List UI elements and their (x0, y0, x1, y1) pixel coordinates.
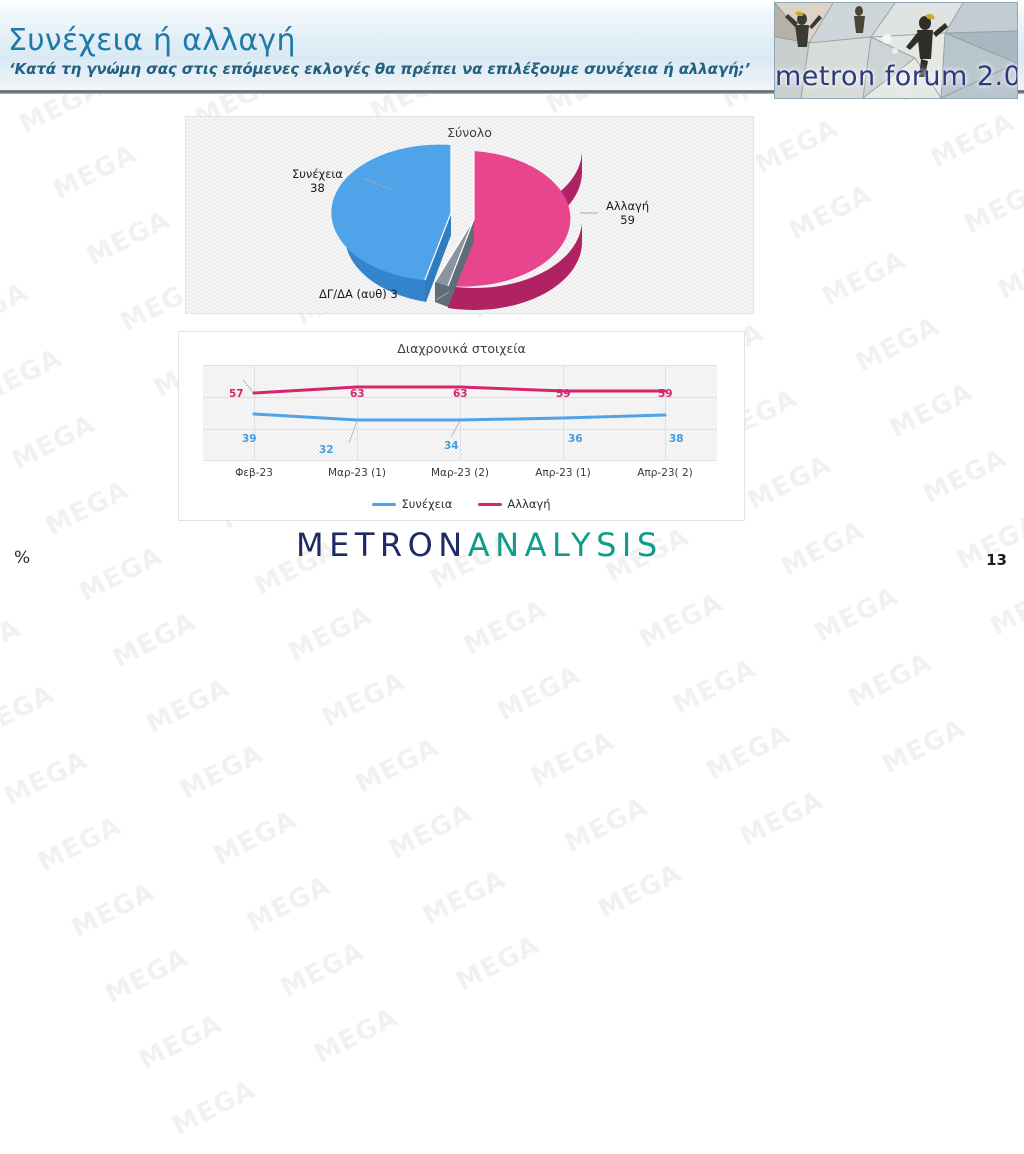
watermark-text: MEGA (82, 205, 175, 272)
watermark-text: MEGA (385, 798, 478, 865)
legend-item-sinexeia[interactable]: Συνέχεια (372, 497, 452, 511)
watermark-text: MEGA (0, 679, 59, 746)
watermark-text: MEGA (209, 804, 302, 871)
watermark-text: MEGA (418, 864, 511, 931)
watermark-text: MEGA (919, 443, 1012, 510)
legend-swatch-allagi (478, 503, 502, 506)
line-label-allagi-0: 57 (229, 388, 244, 400)
watermark-text: MEGA (41, 475, 134, 542)
logo-caption-text: metron forum 2.0 (775, 61, 1017, 92)
watermark-text: MEGA (527, 726, 620, 793)
watermark-text: MEGA (317, 666, 410, 733)
line-label-sinexeia-0: 39 (242, 433, 257, 445)
legend-label-sinexeia: Συνέχεια (401, 497, 452, 511)
watermark-text: MEGA (926, 107, 1019, 174)
line-label-allagi-4: 59 (658, 388, 673, 400)
watermark-text: MEGA (1020, 641, 1024, 708)
legend-label-allagi: Αλλαγή (507, 497, 550, 511)
pie-label-allagi: Αλλαγή 59 (606, 199, 649, 227)
line-xaxis-label-0: Φεβ-23 (209, 467, 299, 479)
watermark-text: MEGA (75, 541, 168, 608)
line-chart-plot-area (203, 365, 717, 461)
watermark-text: MEGA (960, 173, 1024, 240)
watermark-text: MEGA (852, 311, 945, 378)
watermark-text: MEGA (0, 343, 67, 410)
watermark-text: MEGA (243, 870, 336, 937)
watermark-text: MEGA (276, 936, 369, 1003)
page-title: Συνέχεια ή αλλαγή (8, 23, 296, 58)
line-label-sinexeia-2: 34 (444, 440, 459, 452)
pie-label-sinexeia: Συνέχεια 38 (292, 167, 343, 195)
watermark-text: MEGA (736, 785, 829, 852)
line-xaxis-label-3: Απρ-23 (1) (518, 467, 608, 479)
watermark-text: MEGA (0, 613, 26, 680)
pie-label-allagi-name: Αλλαγή (606, 199, 649, 213)
watermark-text: MEGA (993, 239, 1024, 306)
watermark-text: MEGA (49, 139, 142, 206)
watermark-text: MEGA (134, 1008, 227, 1075)
metron-forum-logo: metron forum 2.0 (774, 2, 1018, 99)
line-label-sinexeia-3: 36 (568, 433, 583, 445)
pie-label-sinexeia-value: 38 (292, 181, 343, 195)
line-label-sinexeia-1: 32 (319, 444, 334, 456)
watermark-text: MEGA (743, 449, 836, 516)
line-chart-title: Διαχρονικά στοιχεία (179, 341, 744, 356)
line-xaxis-label-2: Μαρ-23 (2) (415, 467, 505, 479)
line-label-allagi-3: 59 (556, 388, 571, 400)
line-chart-panel: Διαχρονικά στοιχεία (178, 331, 745, 521)
watermark-text: MEGA (0, 745, 93, 812)
pie-label-allagi-value: 59 (606, 213, 649, 227)
page-number: 13 (986, 551, 1007, 569)
line-label-sinexeia-4: 38 (669, 433, 684, 445)
watermark-text: MEGA (108, 607, 201, 674)
watermark-text: MEGA (493, 660, 586, 727)
page-subtitle: ‘Κατά τη γνώμη σας στις επόμενες εκλογές… (9, 60, 750, 78)
watermark-text: MEGA (751, 113, 844, 180)
watermark-text: MEGA (818, 245, 911, 312)
pie-chart-panel: Σύνολο (185, 116, 754, 314)
watermark-text: MEGA (175, 738, 268, 805)
pie-label-dgda: ΔΓ/ΔΑ (αυθ) 3 (319, 287, 398, 301)
line-label-allagi-2: 63 (453, 388, 468, 400)
watermark-text: MEGA (844, 647, 937, 714)
line-chart-legend: Συνέχεια Αλλαγή (179, 497, 744, 511)
watermark-text: MEGA (560, 792, 653, 859)
watermark-text: MEGA (0, 277, 33, 344)
brand-metron-text: METRON (296, 526, 468, 564)
watermark-text: MEGA (810, 581, 903, 648)
brand-analysis-text: ANALYSIS (468, 526, 663, 564)
watermark-text: MEGA (594, 857, 687, 924)
pie-chart-graphic (186, 117, 753, 313)
watermark-text: MEGA (101, 943, 194, 1010)
watermark-text: MEGA (885, 377, 978, 444)
line-label-allagi-1: 63 (350, 388, 365, 400)
watermark-text: MEGA (635, 587, 728, 654)
percent-symbol: % (14, 548, 30, 568)
legend-swatch-sinexeia (372, 503, 396, 506)
watermark-text: MEGA (452, 930, 545, 997)
pie-label-sinexeia-name: Συνέχεια (292, 167, 343, 181)
line-chart-series-graphic (203, 365, 717, 461)
watermark-text: MEGA (351, 732, 444, 799)
watermark-text: MEGA (168, 1074, 261, 1141)
watermark-text: MEGA (142, 672, 235, 739)
watermark-text: MEGA (784, 179, 877, 246)
watermark-text: MEGA (8, 409, 101, 476)
legend-item-allagi[interactable]: Αλλαγή (478, 497, 550, 511)
watermark-text: MEGA (986, 575, 1024, 642)
watermark-text: MEGA (668, 653, 761, 720)
watermark-text: MEGA (702, 719, 795, 786)
line-xaxis-label-1: Μαρ-23 (1) (312, 467, 402, 479)
watermark-text: MEGA (777, 515, 870, 582)
watermark-text: MEGA (34, 811, 127, 878)
line-xaxis-label-4: Απρ-23( 2) (620, 467, 710, 479)
watermark-text: MEGA (459, 594, 552, 661)
metron-analysis-brand: METRONANALYSIS (296, 526, 663, 564)
watermark-text: MEGA (878, 713, 971, 780)
watermark-text: MEGA (284, 600, 377, 667)
watermark-text: MEGA (310, 1002, 403, 1069)
watermark-text: MEGA (67, 877, 160, 944)
